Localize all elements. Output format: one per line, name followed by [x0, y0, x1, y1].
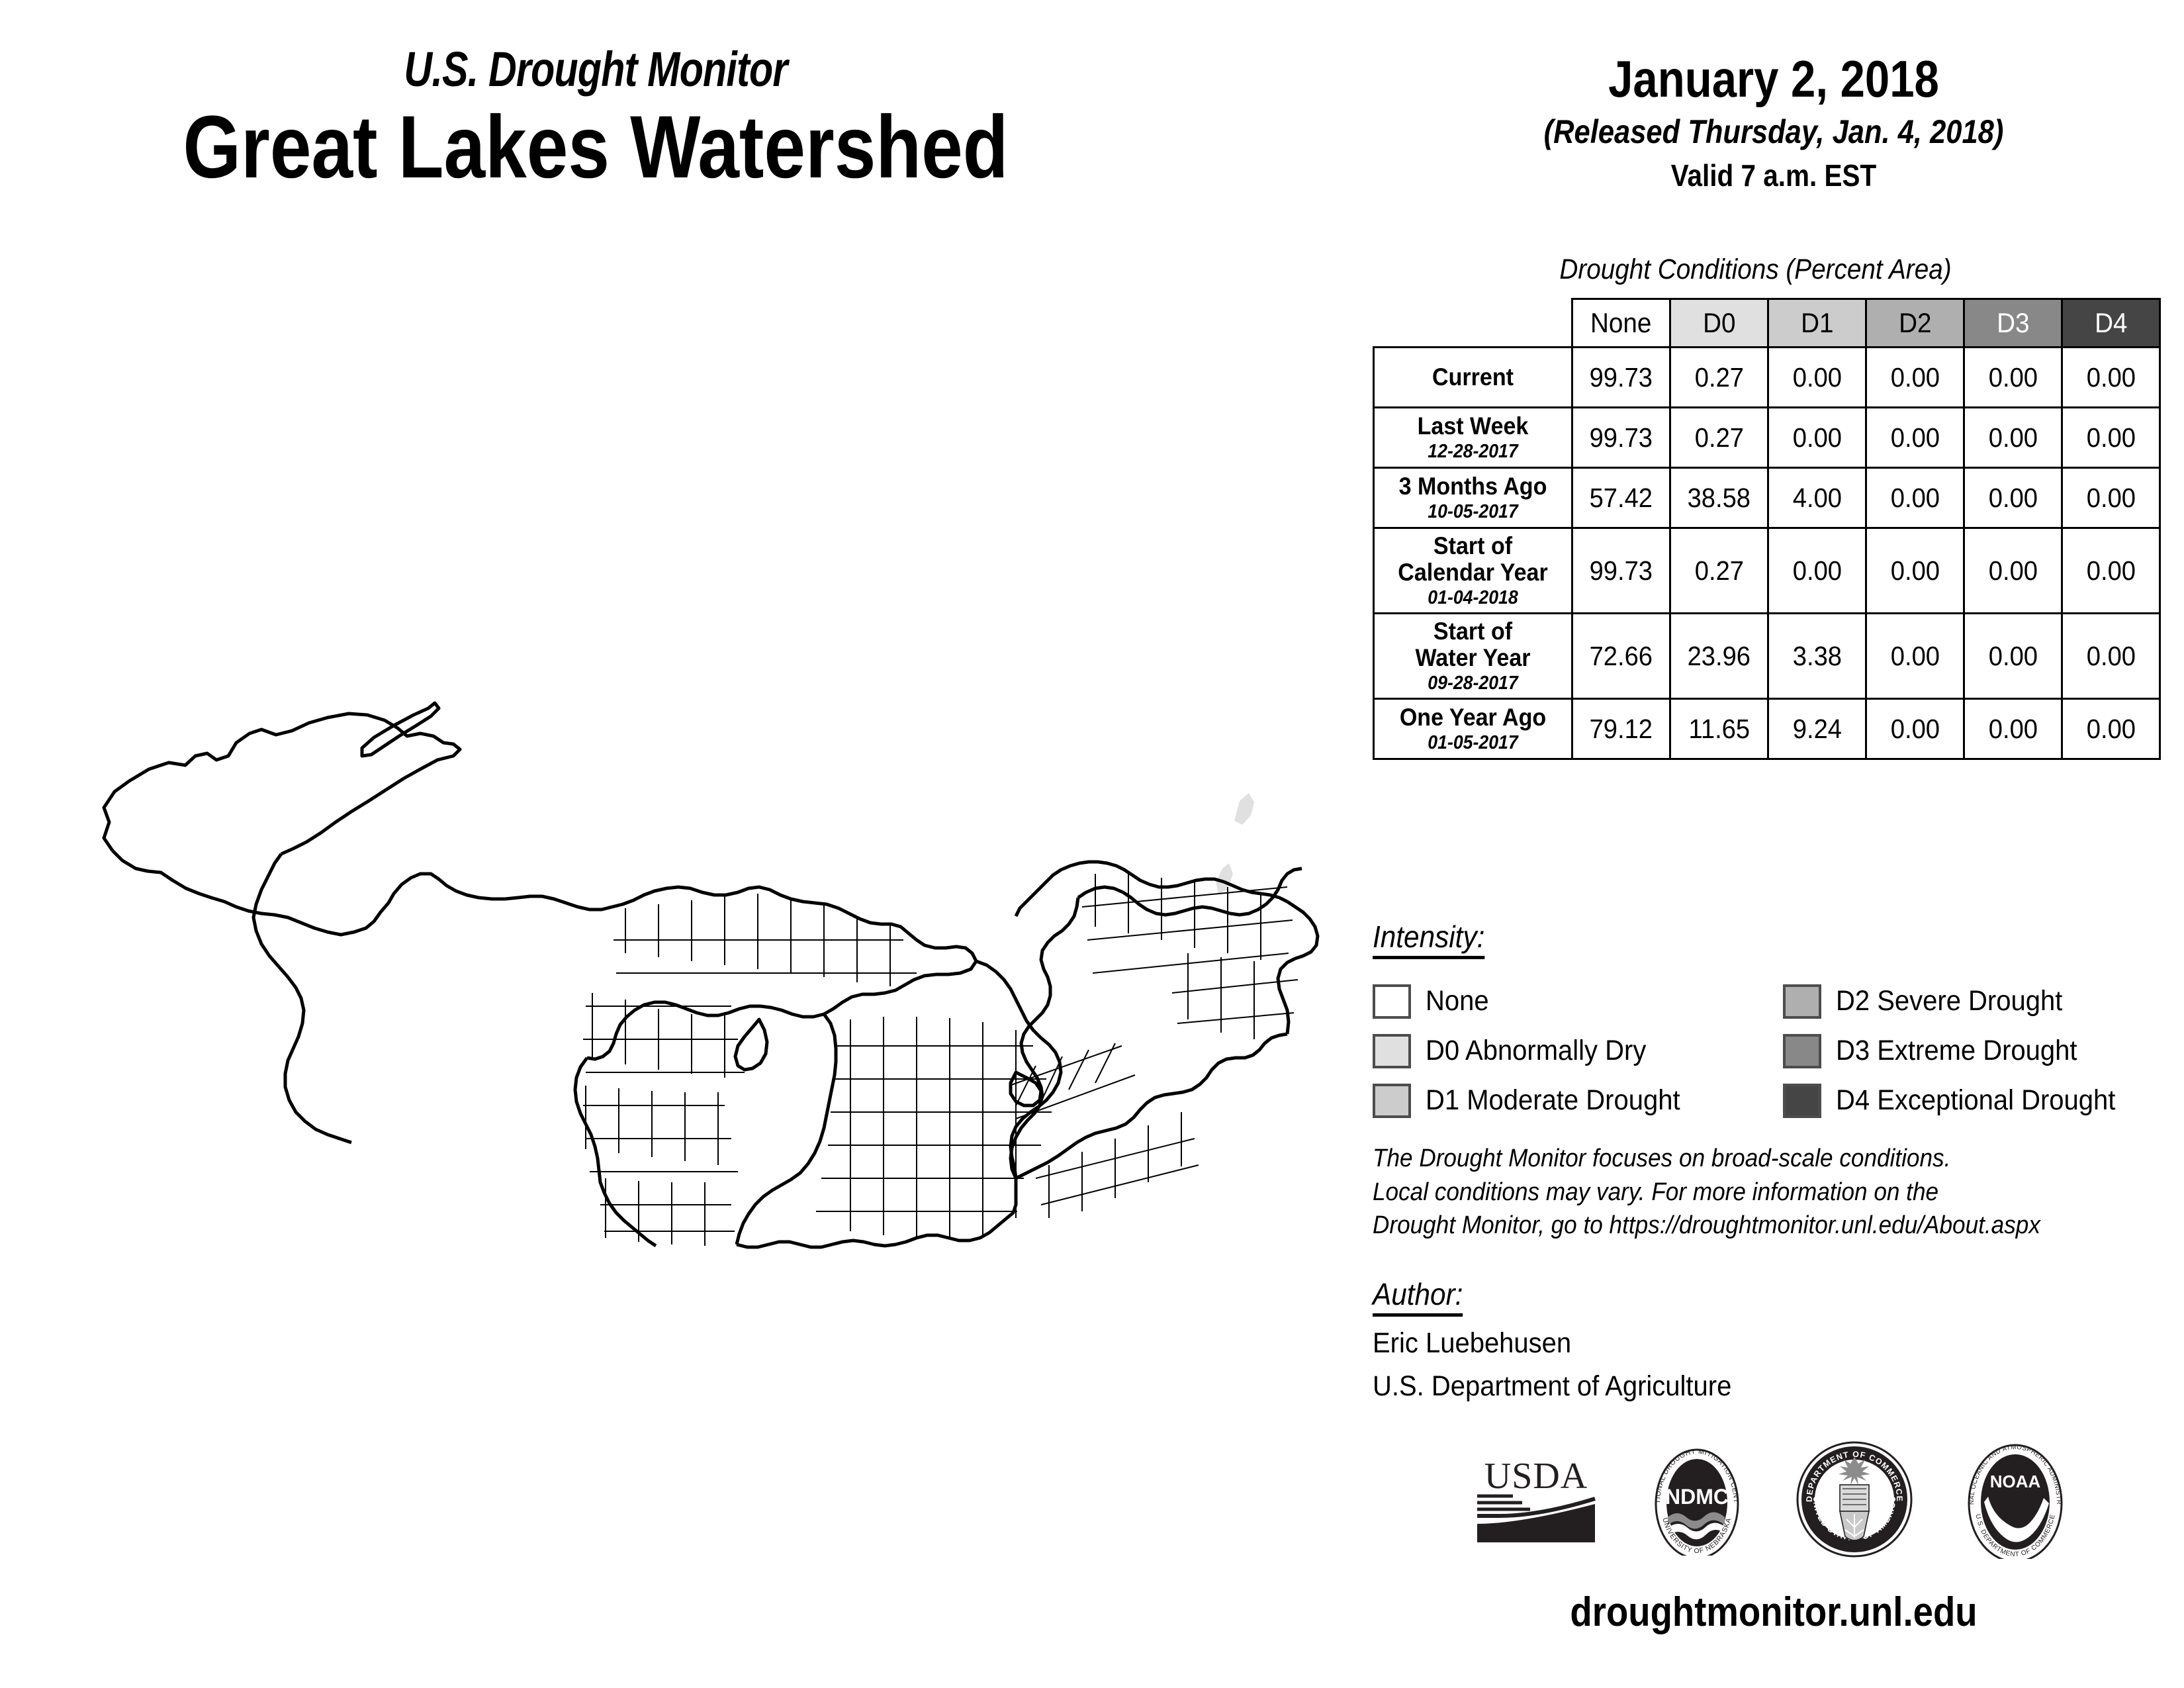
cell-last-week-none: 99.73 — [1572, 408, 1670, 468]
cell-3-months-ago-d1: 4.00 — [1768, 468, 1866, 528]
right-panel: January 2, 2018 (Released Thursday, Jan.… — [1363, 0, 2184, 1688]
disclaimer-line-1: The Drought Monitor focuses on broad-sca… — [1373, 1142, 2116, 1176]
ndmc-logo: NDMC NATIONAL DROUGHT MITIGATION CENTER … — [1644, 1443, 1750, 1559]
cell-one-year-ago-d1: 9.24 — [1768, 699, 1866, 759]
cell-start-water-year-none: 72.66 — [1572, 614, 1670, 699]
legend-label-d2: D2 Severe Drought — [1836, 985, 2062, 1017]
cell-3-months-ago-d2: 0.00 — [1866, 468, 1964, 528]
table-row: Start of Calendar Year 01-04-2018 99.73 … — [1374, 528, 2160, 614]
table-row: One Year Ago 01-05-2017 79.12 11.65 9.24… — [1374, 699, 2160, 759]
cell-one-year-ago-d3: 0.00 — [1964, 699, 2062, 759]
table-row: Start of Water Year 09-28-2017 72.66 23.… — [1374, 614, 2160, 699]
author-heading: Author: — [1373, 1276, 1463, 1317]
header-blank-cell — [1374, 299, 1572, 348]
county-boundaries — [583, 874, 1298, 1246]
cell-last-week-d0: 0.27 — [1670, 408, 1768, 468]
cell-last-week-d2: 0.00 — [1866, 408, 1964, 468]
legend-label-d1: D1 Moderate Drought — [1426, 1084, 1680, 1117]
site-url[interactable]: droughtmonitor.unl.edu — [1412, 1589, 2134, 1636]
page-title-program: U.S. Drought Monitor — [119, 45, 1072, 94]
table-row: Current 99.73 0.27 0.00 0.00 0.00 0.00 — [1374, 348, 2160, 408]
column-header-none: None — [1572, 299, 1670, 348]
legend-label-d0: D0 Abnormally Dry — [1426, 1035, 1646, 1067]
cell-one-year-ago-d2: 0.00 — [1866, 699, 1964, 759]
doc-seal-logo: DEPARTMENT OF COMMERCE UNITED STATES OF … — [1795, 1440, 1914, 1562]
author-affiliation: U.S. Department of Agriculture — [1373, 1370, 1988, 1403]
cell-current-d1: 0.00 — [1768, 348, 1866, 408]
cell-last-week-d4: 0.00 — [2062, 408, 2160, 468]
lower-peninsula-west-shore — [737, 1014, 836, 1244]
conditions-table-container: None D0 D1 D2 D3 D4 Current 99.73 0.27 0… — [1373, 298, 2160, 760]
row-label-3-months-ago: 3 Months Ago 10-05-2017 — [1374, 468, 1572, 528]
northeast-corridor — [1078, 868, 1302, 915]
cell-one-year-ago-d4: 0.00 — [2062, 699, 2160, 759]
legend-swatch-d1 — [1373, 1084, 1411, 1118]
cell-start-calendar-year-d2: 0.00 — [1866, 528, 1964, 614]
legend-item-d4: D4 Exceptional Drought — [1783, 1084, 2184, 1118]
legend-grid: None D2 Severe Drought D0 Abnormally Dry… — [1373, 976, 2167, 1125]
row-label-current: Current — [1374, 348, 1572, 408]
superior-south-shore — [113, 851, 612, 935]
disclaimer-line-2: Local conditions may vary. For more info… — [1373, 1176, 2116, 1209]
cell-one-year-ago-d0: 11.65 — [1670, 699, 1768, 759]
d0-shaded-area — [1234, 793, 1254, 825]
left-panel: U.S. Drought Monitor Great Lakes Watersh… — [0, 0, 1363, 1688]
valid-time: Valid 7 a.m. EST — [1412, 160, 2134, 191]
legend-swatch-d0 — [1373, 1034, 1411, 1068]
drought-conditions-table: None D0 D1 D2 D3 D4 Current 99.73 0.27 0… — [1373, 298, 2161, 760]
conditions-table-caption: Drought Conditions (Percent Area) — [1402, 254, 2109, 286]
cell-start-water-year-d1: 3.38 — [1768, 614, 1866, 699]
usda-logo-text: USDA — [1484, 1456, 1587, 1497]
date-block: January 2, 2018 (Released Thursday, Jan.… — [1363, 53, 2184, 191]
table-row: Last Week 12-28-2017 99.73 0.27 0.00 0.0… — [1374, 408, 2160, 468]
cell-start-calendar-year-d0: 0.27 — [1670, 528, 1768, 614]
release-date: (Released Thursday, Jan. 4, 2018) — [1417, 115, 2131, 148]
noaa-logo-text: NOAA — [1989, 1472, 2040, 1491]
disclaimer-text: The Drought Monitor focuses on broad-sca… — [1373, 1142, 2177, 1243]
legend-swatch-none — [1373, 984, 1411, 1019]
row-label-start-of-water-year: Start of Water Year 09-28-2017 — [1374, 614, 1572, 699]
author-name: Eric Luebehusen — [1373, 1327, 1988, 1360]
cell-start-water-year-d3: 0.00 — [1964, 614, 2062, 699]
cell-current-d2: 0.00 — [1866, 348, 1964, 408]
southern-divide — [737, 1178, 1016, 1247]
legend-label-d3: D3 Extreme Drought — [1836, 1035, 2077, 1067]
cell-current-d0: 0.27 — [1670, 348, 1768, 408]
row-label-last-week: Last Week 12-28-2017 — [1374, 408, 1572, 468]
disclaimer-line-3: Drought Monitor, go to https://droughtmo… — [1373, 1209, 2116, 1243]
cell-start-water-year-d2: 0.00 — [1866, 614, 1964, 699]
lake-superior-basin — [104, 714, 460, 854]
legend-item-d3: D3 Extreme Drought — [1783, 1034, 2184, 1068]
cell-last-week-d1: 0.00 — [1768, 408, 1866, 468]
huron-ontario-link — [1011, 898, 1078, 1178]
cell-start-calendar-year-d4: 0.00 — [2062, 528, 2160, 614]
legend-item-d1: D1 Moderate Drought — [1373, 1084, 1783, 1118]
legend-swatch-d2 — [1783, 984, 1821, 1019]
column-header-d4: D4 — [2062, 299, 2160, 348]
column-header-d1: D1 — [1768, 299, 1866, 348]
cell-start-calendar-year-d1: 0.00 — [1768, 528, 1866, 614]
legend-item-d2: D2 Severe Drought — [1783, 984, 2184, 1019]
great-lakes-watershed-map[interactable] — [63, 583, 1320, 1278]
legend-item-none: None — [1373, 984, 1783, 1019]
cell-3-months-ago-d0: 38.58 — [1670, 468, 1768, 528]
map-container[interactable] — [63, 583, 1320, 1278]
lake-michigan-west-shore — [575, 1058, 656, 1246]
logo-row: USDA NDMC NATIONAL DROUGHT MITIGATION CE — [1370, 1438, 2174, 1564]
column-header-d0: D0 — [1670, 299, 1768, 348]
cell-3-months-ago-none: 57.42 — [1572, 468, 1670, 528]
cell-current-none: 99.73 — [1572, 348, 1670, 408]
legend-label-d4: D4 Exceptional Drought — [1836, 1084, 2115, 1117]
d0-shaded-area-2 — [1216, 863, 1233, 894]
cell-3-months-ago-d4: 0.00 — [2062, 468, 2160, 528]
table-header-row: None D0 D1 D2 D3 D4 — [1374, 299, 2160, 348]
issue-date: January 2, 2018 — [1421, 53, 2126, 105]
door-peninsula — [735, 1019, 767, 1070]
row-label-line: Start of Water Year — [1385, 618, 1561, 671]
cell-3-months-ago-d3: 0.00 — [1964, 468, 2062, 528]
legend-label-none: None — [1426, 985, 1489, 1017]
legend-swatch-d3 — [1783, 1034, 1821, 1068]
cell-start-water-year-d4: 0.00 — [2062, 614, 2160, 699]
cell-one-year-ago-none: 79.12 — [1572, 699, 1670, 759]
row-label-line: Start of Calendar Year — [1385, 533, 1561, 586]
cell-current-d3: 0.00 — [1964, 348, 2062, 408]
intensity-heading: Intensity: — [1373, 919, 1484, 959]
column-header-d2: D2 — [1866, 299, 1964, 348]
ontario-north-shore — [1016, 862, 1287, 916]
author-block: Author: Eric Luebehusen U.S. Department … — [1373, 1276, 2034, 1403]
cell-start-water-year-d0: 23.96 — [1670, 614, 1768, 699]
row-label-one-year-ago: One Year Ago 01-05-2017 — [1374, 699, 1572, 759]
intensity-legend: Intensity: None D2 Severe Drought D0 Abn… — [1373, 919, 2167, 1125]
cell-start-calendar-year-d3: 0.00 — [1964, 528, 2062, 614]
title-block: U.S. Drought Monitor Great Lakes Watersh… — [0, 45, 1191, 192]
watershed-boundary-west — [253, 854, 351, 1143]
cell-start-calendar-year-none: 99.73 — [1572, 528, 1670, 614]
cell-last-week-d3: 0.00 — [1964, 408, 2062, 468]
row-label-start-of-calendar-year: Start of Calendar Year 01-04-2018 — [1374, 528, 1572, 614]
cell-current-d4: 0.00 — [2062, 348, 2160, 408]
column-header-d3: D3 — [1964, 299, 2062, 348]
legend-item-d0: D0 Abnormally Dry — [1373, 1034, 1783, 1068]
ndmc-logo-text: NDMC — [1665, 1485, 1729, 1509]
table-row: 3 Months Ago 10-05-2017 57.42 38.58 4.00… — [1374, 468, 2160, 528]
usda-logo: USDA — [1473, 1450, 1599, 1552]
legend-swatch-d4 — [1783, 1084, 1821, 1118]
page-title-region: Great Lakes Watershed — [95, 103, 1096, 192]
noaa-logo: NOAA NATIONAL OCEANIC AND ATMOSPHERIC AD… — [1959, 1440, 2071, 1562]
